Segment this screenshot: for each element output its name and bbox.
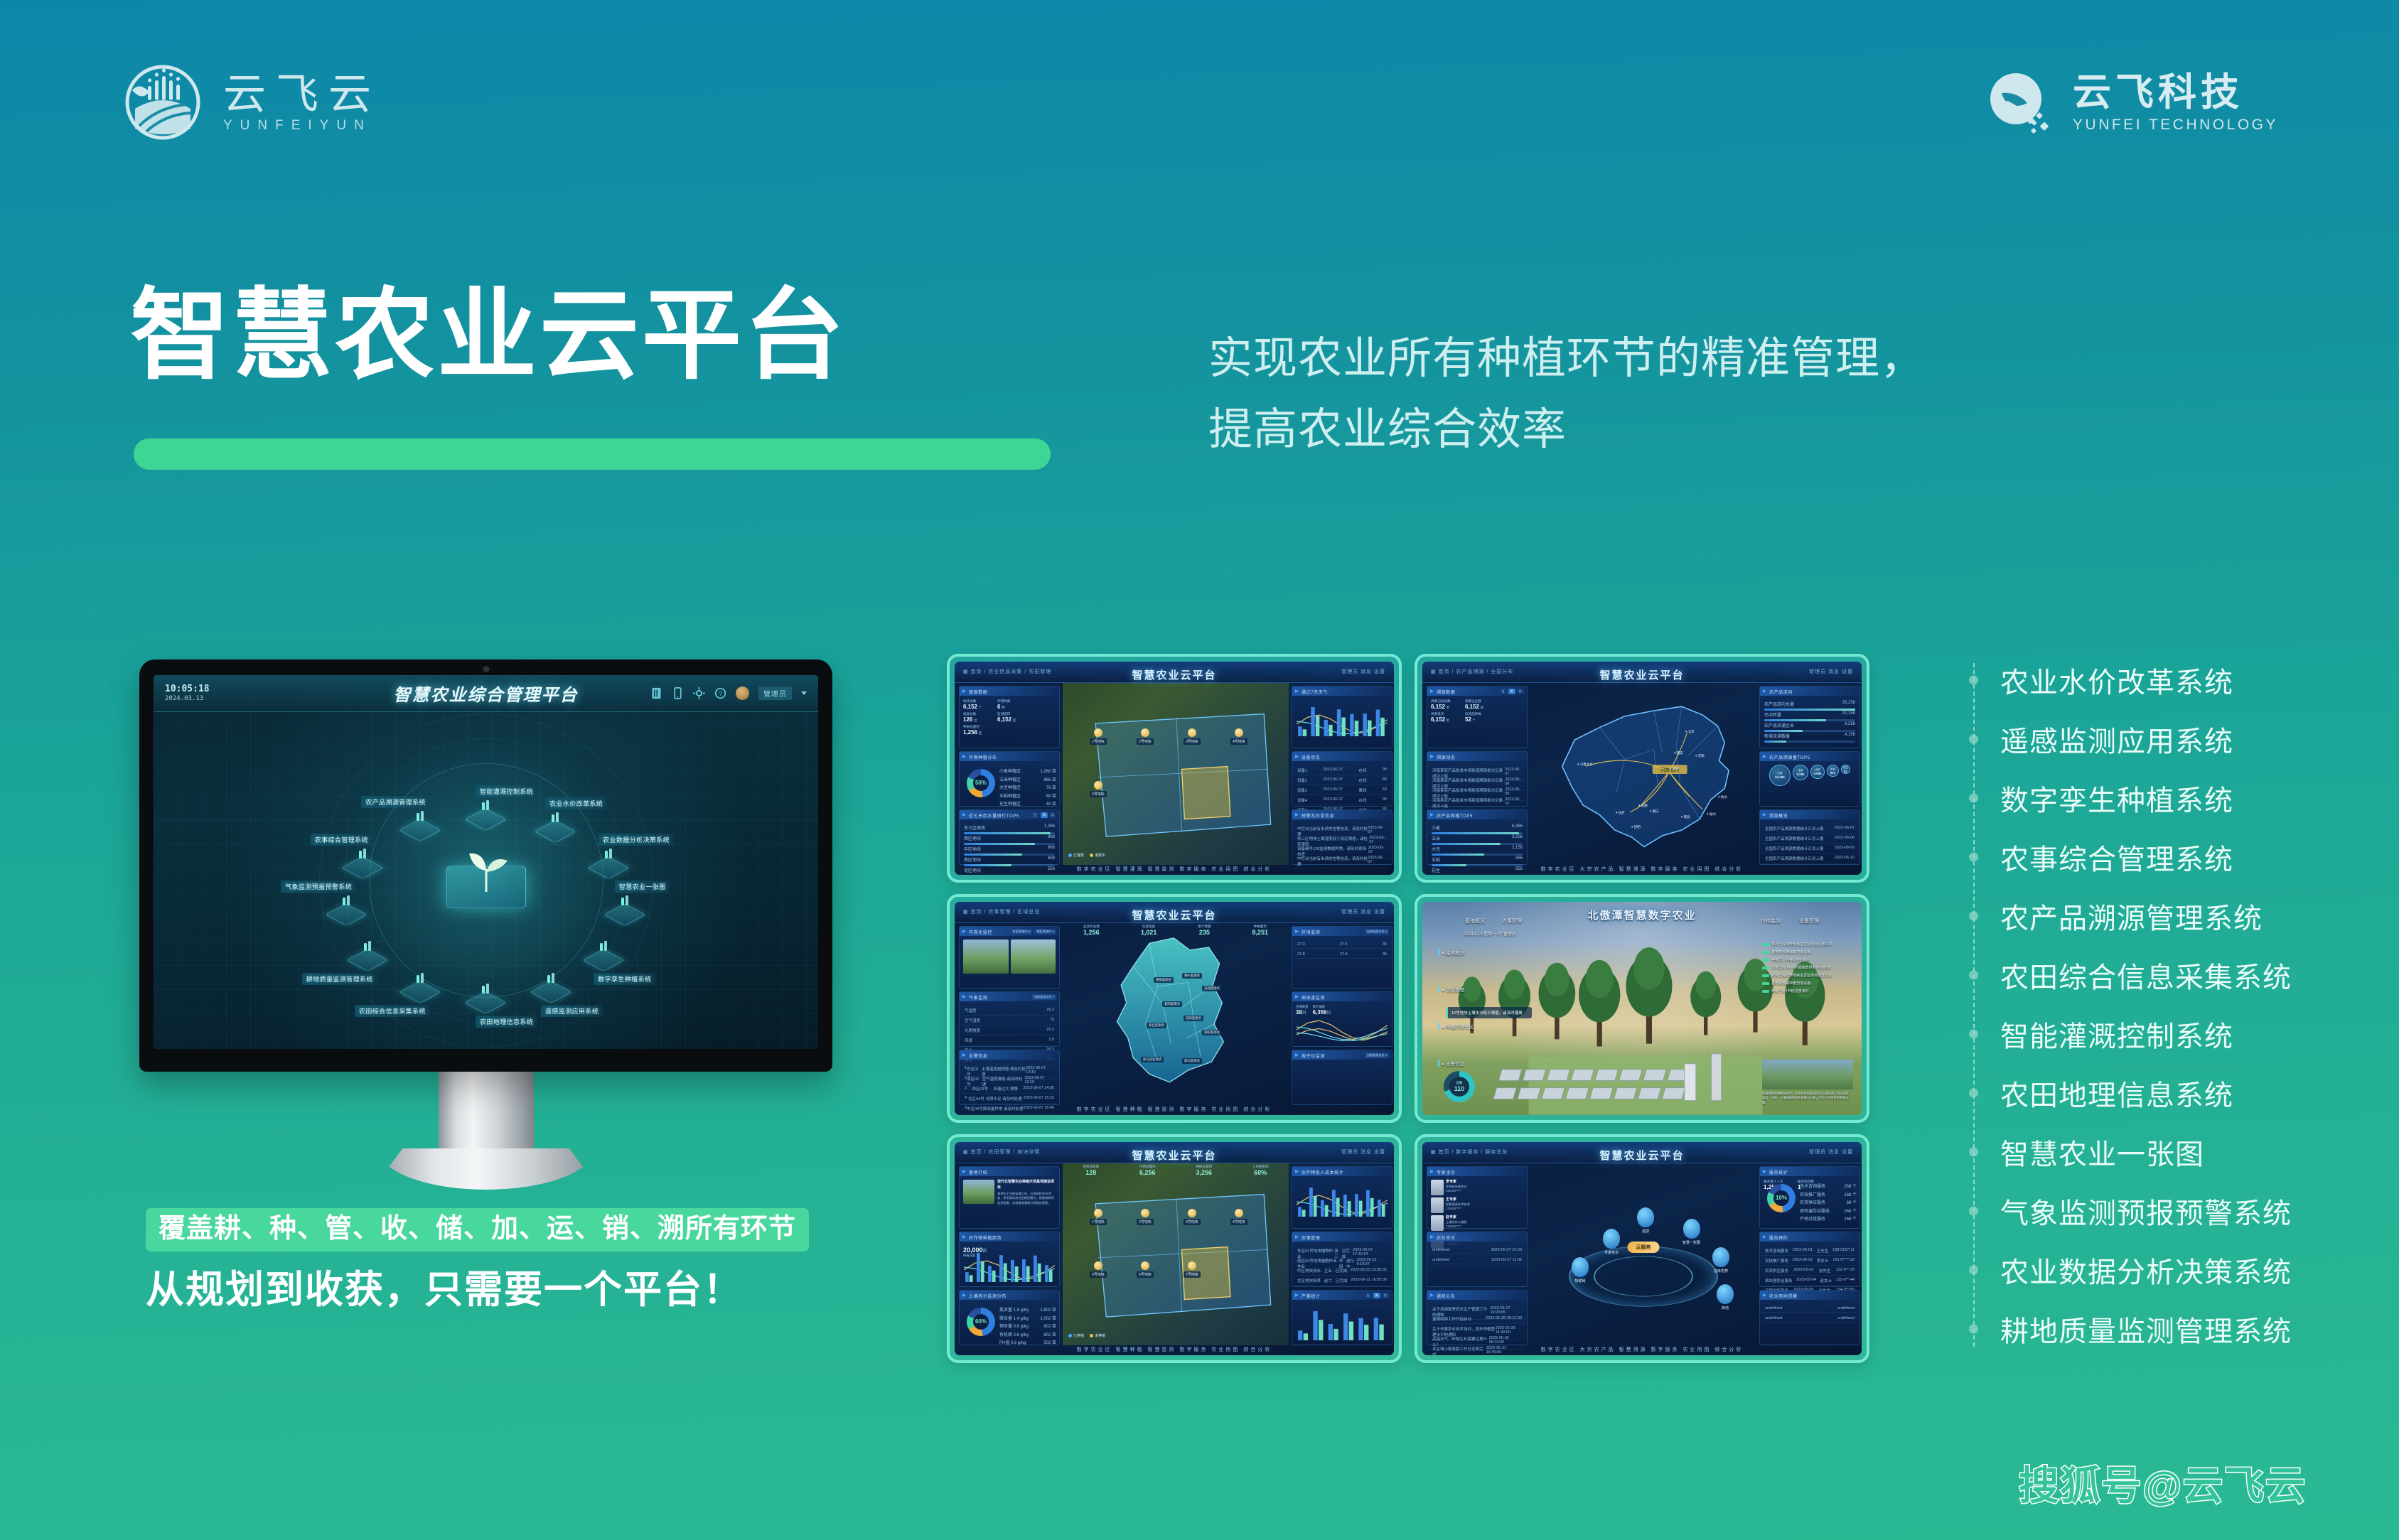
table-row: 河南某农产品批发市场新增溯源批次记录成功上链2023-06-10 (1429, 796, 1525, 811)
title-underline-bar (134, 438, 1051, 470)
gear-icon[interactable] (693, 686, 705, 700)
panel-select[interactable]: 当前监测点位 ▾ (1365, 1052, 1389, 1058)
province-map (1063, 923, 1289, 1105)
system-list-label: 农业水价改革系统 (2000, 659, 2233, 701)
donut-chart: 10% (1767, 1184, 1796, 1212)
hub-node[interactable]: 遥感 (1637, 1207, 1654, 1234)
dashboard-panel: 溯源数据 溯源记录总数 6,152 条 溯源企业数 6,152 家 溯源批次 6… (1427, 686, 1528, 748)
system-list-label: 遥感监测应用系统 (2000, 718, 2233, 760)
system-list-label: 智慧农业一张图 (2000, 1131, 2204, 1173)
map-legend: 已种植 未种植 (1068, 1333, 1105, 1338)
map-marker[interactable]: 1号地块 (1090, 728, 1107, 745)
map-point-label[interactable]: 周口监测点 (1182, 1058, 1202, 1064)
hub-center-label: 云服务 (1628, 1242, 1660, 1253)
bar-row: 已中转量20,158 (1764, 711, 1855, 721)
map-legend: 已灌溉 灌溉中 (1068, 853, 1105, 858)
brand-name-cn: 云飞云 (223, 73, 381, 116)
donut-chart: 60% (967, 1308, 995, 1336)
scene-donut-wrap: 总数110 (1444, 1071, 1475, 1102)
bar-chart (1297, 1308, 1388, 1340)
hub-node-label: 耕地质量监测管理系统 (302, 973, 377, 985)
map-point-label[interactable]: 安阳监测点 (1162, 1001, 1182, 1007)
system-list-label: 耕地质量监测管理系统 (2000, 1308, 2292, 1350)
system-list-item[interactable]: 智慧农业一张图 (1969, 1122, 2292, 1181)
map-city-label: ▾ 南昌 (1681, 815, 1690, 819)
table-row: 4北区04号光照不足 请及时处理2023-06-07 15:22 (961, 1094, 1058, 1104)
sprout-icon (461, 849, 512, 897)
dashboard-panel: 气象监测气温度26.3空气湿度75光照强度26.3风速3.5风力26.3降雨26… (959, 991, 1060, 1047)
panel-title: 通辽7天天气 (1292, 686, 1392, 696)
top-stats-row: 监测点总数 1,256 在线设备 1,021 累计预警 235 种植面积 8,2… (1063, 925, 1289, 936)
table-row: 中区地块浇水王五已完成2023-05-23 10:30:02 (1294, 1266, 1390, 1276)
webcam-icon (483, 666, 489, 672)
bar-row: 新增流通数量4,158 (1764, 733, 1855, 743)
panel-title: 农产品溯源量TOP5 (1760, 752, 1859, 761)
field-circle-logo-icon (121, 60, 205, 144)
system-list-label: 农事综合管理系统 (2000, 836, 2233, 878)
breadcrumb[interactable]: ▦ 首页 / 农事管理 / 区域总览 (963, 908, 1040, 915)
map-city-label: ▾ 重庆 (1650, 809, 1659, 814)
hub-node-label: 农业数据分析决策系统 (599, 834, 674, 846)
monitor-bezel: 10:05:18 2024.03.13 智慧农业综合管理平台 ? 管理员 (139, 659, 832, 1072)
system-list-label: 农产品溯源管理系统 (2000, 895, 2263, 937)
dashboard-panel: 预警及异常信息中控台当前有未读的告警信息，请及时处理2023-06-07东三区地… (1292, 809, 1392, 865)
table-row: undefined2023-05-27 10:20 (1429, 1246, 1525, 1254)
bar-row: 南区地块698 (964, 856, 1055, 866)
map-marker[interactable]: 2号地块 (1137, 728, 1154, 745)
hub-node-icon (340, 893, 353, 908)
panel-select[interactable]: 当前监测点位 ▾ (1365, 929, 1389, 935)
scene-panel-label[interactable]: ▸ 基地概况 (1438, 949, 1464, 956)
bar-row: 水稻956 (1432, 856, 1523, 866)
dashboard-panel: 设备状态设备12023.06.07在线90设备22023.06.07在线80设备… (1292, 751, 1392, 807)
dashboard-panel: 农作物投入成本统计 (1292, 1166, 1392, 1229)
map-city-label: ▾ 福州 (1707, 812, 1716, 817)
line-chart (1297, 1021, 1388, 1043)
intro-card: 现代化智慧农业种植示范基地建设项目基地位于河南省通辽市，占地面积3000余亩，采… (963, 1180, 1056, 1205)
expert-card: 王专家 智慧灌溉技术咨询132450***** (1431, 1197, 1476, 1213)
dashboard-user-meta[interactable]: 管理员 消息 设置 (1809, 668, 1853, 675)
map-marker[interactable]: 3号地块 (1184, 1209, 1201, 1225)
dashboard-panel: 可视化监控东区地块01 ▾南区地块01 ▾ (959, 926, 1060, 989)
camera-thumbnails[interactable] (963, 939, 1056, 974)
clock-time: 10:05:18 (165, 684, 210, 695)
hub-node-icon (602, 846, 615, 861)
thumbnail-screen: 智慧农业云平台▦ 首页 / 农业信息采集 / 农田管理管理员 消息 设置数字农业… (955, 662, 1394, 875)
svg-text:?: ? (719, 690, 722, 697)
table-row: 全国农产品溯源数据统计汇总上报2023-06-08 (1761, 834, 1858, 844)
dashboard-panel: 基地介绍 现代化智慧农业种植示范基地建设项目基地位于河南省通辽市，占地面积300… (959, 1166, 1060, 1229)
panel-tabs[interactable]: 日周月 (1031, 812, 1056, 818)
dashboard-bottom-nav[interactable]: 数字农业区 智慧灌溉 智慧监测 数字服务 农业用图 综合分析 (955, 866, 1394, 873)
hero-title-block: 智慧农业云平台 (130, 281, 847, 392)
dashboard-title: 北傲潭智慧数字农业 (1587, 908, 1696, 922)
dashboard-panel: 农业用地提醒undefinedundefinedundefinedundefin… (1759, 1290, 1860, 1345)
map-marker[interactable]: 5号地块 (1090, 1261, 1107, 1278)
chevron-down-icon[interactable] (801, 691, 807, 695)
panel-title: 告警信息 (960, 1050, 1059, 1060)
leaf-circle-logo-icon (1983, 68, 2057, 141)
thumbnail-screen: 智慧农业云平台▦ 首页 / 农产品溯源 / 全国分布管理员 消息 设置数字农业区… (1422, 662, 1862, 875)
panel-title: 服务统计 (1760, 1167, 1859, 1176)
stat-item: 地块总数 6,152 个 (963, 699, 994, 710)
thumbnail-screen: 北傲潭智慧数字农业2023.3.13 星期一 晴 管理员基地概况农事管理作物监测… (1422, 902, 1862, 1115)
scene-panel-label[interactable]: ▸ 告警信息 (1438, 1060, 1464, 1067)
top-stats-row: 地块总数量 128 作物总面积 6,256 种植总面积 3,256 土地使用率 … (1063, 1165, 1289, 1176)
stat-item: 溯源批次 6,152 批 (1431, 712, 1462, 723)
select-group[interactable]: 东区地块01 ▾南区地块01 ▾ (1011, 929, 1056, 935)
dashboard-panel: 基础数据 地块总数 6,152 个 作物种类 6 种 设备总数 126 台 监测… (959, 686, 1060, 748)
map-marker[interactable]: 5号地块 (1090, 781, 1107, 797)
map-marker[interactable]: 6号地块 (1137, 1261, 1154, 1278)
scene-panel-label[interactable]: ▸ 农机管理 (1438, 986, 1464, 993)
clock-date: 2024.03.13 (165, 695, 210, 703)
table-row: 27.827.535 (1294, 951, 1390, 959)
system-list-label: 智能灌溉控制系统 (2000, 1013, 2233, 1055)
dashboard-user-meta[interactable]: 管理员 消息 设置 (1341, 1148, 1385, 1156)
breadcrumb[interactable]: ▦ 首页 / 农业信息采集 / 农田管理 (963, 668, 1051, 675)
panel-title: 土壤养分监测分布 (960, 1291, 1059, 1300)
hub-node-icon (597, 939, 610, 953)
dashboard-panel: 近七天用水量排行TOP5东三区地块1,266 西区地块968 中区地块866 南… (959, 809, 1060, 865)
service-hub-visual: 云服务 物联网 专家坐诊 遥感 智慧一张图 总体态势 (1530, 1163, 1756, 1345)
panel-title: 农产品流向 (1760, 686, 1859, 696)
panel-title: 作物种植分布 (960, 752, 1059, 761)
hub-node-label: 智慧农业一张图 (615, 881, 670, 893)
screen-topbar: 10:05:18 2024.03.13 智慧农业综合管理平台 ? 管理员 (154, 675, 818, 712)
stat-item: 溯源记录总数 6,152 条 (1431, 699, 1462, 710)
dashboard-panel: 专家坐诊 李专家 作物病虫害防治131480***** 王专家 智慧灌溉技术咨询… (1427, 1166, 1528, 1229)
table-row: 设备42023.06.07在线90 (1294, 796, 1390, 805)
system-list-item[interactable]: 农业水价改革系统 (1969, 650, 2292, 709)
table-row: 光照强度26.3 (961, 1026, 1058, 1035)
bar-row: 西区地块968 (964, 835, 1055, 845)
hub-node-icon (544, 971, 557, 985)
field-parcel-overlay (1063, 1163, 1289, 1345)
map-city-label: ▾ 拉萨 (1616, 811, 1625, 815)
system-list-item[interactable]: 数字孪生种植系统 (1969, 768, 2292, 827)
panel-title: 溯源动态 (1427, 752, 1527, 761)
tagline-highlight: 覆盖耕、种、管、收、储、加、运、销、溯所有环节 (146, 1208, 809, 1251)
map-point-label[interactable]: 南阳监测点 (1202, 1030, 1222, 1035)
dashboard-title: 智慧农业云平台 (1132, 667, 1216, 682)
screen-user-label[interactable]: 管理员 (758, 686, 792, 700)
panel-select[interactable]: 当前监测点位 ▾ (1032, 994, 1056, 1000)
brand-name-en: YUNFEIYUN (223, 119, 381, 132)
dashboard-panel: 农产品溯源量TOP5 小麦63,255 玉米9,256 大豆6,958 水稻82… (1759, 751, 1860, 807)
map-marker[interactable]: 3号地块 (1184, 728, 1201, 745)
table-row: 全国农产品溯源数据统计汇总上报2023-06-09 (1761, 844, 1858, 854)
map-city-label: ▾ 郑州 (1670, 767, 1679, 771)
dashboard-bottom-nav[interactable]: 数字农业区 智慧种植 智慧监测 数字服务 农业用图 综合分析 (955, 1346, 1394, 1353)
system-list-label: 农田地理信息系统 (2000, 1072, 2233, 1114)
stat-item: 设备总数 126 台 (963, 712, 994, 723)
dashboard-panel: 病虫害监测 虫情数量 38只累计捕获 6,356只 (1292, 991, 1392, 1047)
table-row: 全国农产品溯源数据统计汇总上报2023-06-10 (1761, 854, 1858, 863)
table-row: 气温度26.3 (961, 1006, 1058, 1016)
dashboard-panel: 土壤养分监测分布60% 氮含量 1.8 g/kg1,602 亩 磷含量 1.4 … (959, 1290, 1060, 1345)
map-marker[interactable]: 4号地块 (1230, 1209, 1247, 1225)
breadcrumb[interactable]: ▦ 首页 / 农产品溯源 / 全国分布 (1431, 668, 1513, 675)
avatar[interactable] (736, 686, 749, 700)
panel-title: 预警及异常信息 (1292, 810, 1392, 819)
scene-alert: 12号地块土壤水分低于阈值，请及时灌溉 (1447, 1007, 1532, 1018)
dashboard-panel: 农事管理东区01号地块播种作业张三已完成2023-05-07 17:10:24南… (1292, 1232, 1392, 1287)
desktop-monitor: 10:05:18 2024.03.13 智慧农业综合管理平台 ? 管理员 (139, 659, 832, 1190)
system-list-item[interactable]: 耕地质量监测管理系统 (1969, 1299, 2292, 1358)
table-row: 设备32023.06.07离线60 (1294, 786, 1390, 795)
stat-group: 溯源记录总数 6,152 条 溯源企业数 6,152 家 溯源批次 6,152 … (1431, 699, 1523, 723)
table-row: 3西区03号风速过大 预警2023-06-07 14:05 (961, 1084, 1058, 1094)
dashboard-user-meta[interactable]: 管理员 消息 设置 (1341, 668, 1385, 675)
hub-node-icon (479, 981, 492, 996)
table-row: 风速3.5 (961, 1036, 1058, 1045)
panel-title: 农作物种植趋势 (960, 1232, 1059, 1242)
dashboard-panel: 农产品种植TOP5小麦6,456 玉米3,256 大豆2,156 水稻956 花… (1427, 809, 1528, 865)
table-row: 北区地块除草赵六已完成2023-06-11 16:05:00 (1294, 1276, 1390, 1286)
dashboard-center-visual: 洛阳监测点郑州监测点开封监测点安阳监测点商丘监测点信阳监测点南阳监测点驻马店监测… (1063, 923, 1289, 1105)
dashboard-bottom-nav[interactable]: 数字农业区 大宗农产品 智慧溯源 数字服务 农业用图 综合分析 (1422, 866, 1862, 873)
donut-legend: 小麦种植区1,268 亩 玉米种植区868 亩 大豆种植区78 亩 水稻种植区6… (999, 768, 1056, 809)
table-row: undefined2023-05-27 11:05 (1429, 1256, 1525, 1264)
subtitle-line-1: 实现农业所有种植环节的精准管理， (1208, 323, 2104, 394)
panel-tabs[interactable]: 日周年 (1499, 689, 1524, 694)
stat-item: 作物种类 6 种 (997, 699, 1029, 710)
panel-title: 农业用地提醒 (1760, 1291, 1859, 1300)
dashboard-panel: 告警信息1东区01号土壤温度超阈值 请及时处理2023-06-07 12:302… (959, 1050, 1060, 1105)
monitor-screen: 10:05:18 2024.03.13 智慧农业综合管理平台 ? 管理员 (154, 675, 818, 1049)
dashboard-thumbnail[interactable]: 智慧农业云平台▦ 首页 / 农事管理 / 区域总览管理员 消息 设置数字农业区 … (947, 894, 1402, 1123)
map-point-label[interactable]: 驻马店监测点 (1141, 1057, 1164, 1062)
hub-node-label: 农产品溯源管理系统 (361, 796, 430, 808)
breadcrumb[interactable]: ▦ 首页 / 农田管理 / 地块详情 (963, 1148, 1040, 1156)
system-list-item[interactable]: 农产品溯源管理系统 (1969, 886, 2292, 945)
field-parcel-overlay (1063, 683, 1289, 865)
dashboard-title: 智慧农业云平台 (1132, 1148, 1216, 1163)
donut-legend: 氮含量 1.8 g/kg1,602 亩 磷含量 1.4 g/kg1,002 亩 … (999, 1306, 1056, 1347)
system-list-item[interactable]: 农业数据分析决策系统 (1969, 1240, 2292, 1299)
bar-row: 农产品流通企业8,258 (1764, 722, 1855, 732)
scene-nav-item[interactable]: 设备管理 (1799, 917, 1819, 925)
hub-node-label: 气象监测预报预警系统 (281, 881, 356, 893)
scene-right-list: 本月已完成作物病虫害监测点巡查12次 基地共部署58套智能设备 种植区5月种植进… (1762, 942, 1853, 996)
hub-node-label: 数字孪生种植系统 (594, 973, 655, 985)
brand-logo-right: 云飞科技 YUNFEI TECHNOLOGY (1983, 68, 2278, 141)
system-list-label: 农田综合信息采集系统 (2000, 954, 2292, 996)
bar-row: 玉米3,256 (1432, 835, 1523, 845)
map-city-label: ▾ 成都 (1638, 804, 1648, 808)
map-city-label: ▾ 济南 (1695, 754, 1705, 758)
dashboard-panel: 农产品流向农产品流向总量35,258 已中转量20,158 农产品流通企业8,2… (1759, 686, 1860, 748)
monitor-neck (439, 1072, 534, 1148)
system-list-label: 农业数据分析决策系统 (2000, 1249, 2292, 1291)
map-point-label[interactable]: 郑州监测点 (1182, 973, 1202, 979)
map-point-label[interactable]: 洛阳监测点 (1154, 977, 1174, 983)
scene-nav-item[interactable]: 基地概况 (1465, 917, 1485, 925)
scene-photo-card: 本基地采用物联网技术，实现对农田环境的全天候监测，包括温度、湿度、光照、土壤墒情… (1762, 1060, 1853, 1105)
table-row: 设备22023.06.07在线80 (1294, 776, 1390, 785)
dashboard-thumbnail[interactable]: 智慧农业云平台▦ 首页 / 农业信息采集 / 农田管理管理员 消息 设置数字农业… (947, 654, 1402, 883)
dashboard-panel: 作物种植分布50% 小麦种植区1,268 亩 玉米种植区868 亩 大豆种植区7… (959, 751, 1060, 807)
table-row: undefinedundefined (1761, 1305, 1858, 1313)
system-list-item[interactable]: 农田综合信息采集系统 (1969, 945, 2292, 1004)
table-row: 夏粮收购工作开始启动2023-05-28 09:12:00 (1429, 1315, 1525, 1324)
hub-visualization: 智能灌溉控制系统农业水价改革系统农业数据分析决策系统智慧农业一张图数字孪生种植系… (154, 712, 818, 1049)
panel-title: 农业资讯 (1427, 1232, 1527, 1242)
panel-title: 专家坐诊 (1427, 1167, 1527, 1176)
screen-toolbar: ? 管理员 (650, 686, 807, 700)
panel-title: 基地介绍 (960, 1167, 1059, 1176)
dashboard-center-visual: 河南郑州▾ 乌鲁木齐▾ 北京▾ 西安▾ 济南▾ 拉萨▾ 重庆▾ 成都▾ 南昌▾ … (1530, 683, 1756, 865)
table-row: 病虫害防治服务2023-05-04赵女士133-0**-44 (1761, 1276, 1858, 1286)
hub-node-icon (414, 809, 426, 823)
dashboard-user-meta[interactable]: 管理员 消息 设置 (1809, 1148, 1853, 1156)
table-row: undefinedundefined (1761, 1315, 1858, 1323)
bar-chart (1297, 704, 1388, 736)
system-list-item[interactable]: 农事综合管理系统 (1969, 827, 2292, 886)
help-icon[interactable]: ? (714, 686, 726, 700)
table-row: 27.327.535 (1294, 941, 1390, 949)
monitor-base (380, 1148, 593, 1190)
brand2-name-en: YUNFEI TECHNOLOGY (2073, 113, 2278, 137)
metric-group: 虫情数量 38只累计捕获 6,356只 (1296, 1005, 1331, 1016)
hub-node-icon (549, 810, 562, 824)
screen-clock: 10:05:18 2024.03.13 (165, 684, 210, 704)
hub-node-icon (618, 893, 631, 908)
dashboard-title: 智慧农业云平台 (1599, 667, 1684, 682)
bubble-chart: 小麦63,255 玉米9,256 大豆6,958 水稻823 花生84 (1763, 765, 1857, 786)
hub-node-label: 农田地理信息系统 (476, 1016, 537, 1028)
thumbnail-screen: 智慧农业云平台▦ 首页 / 农事管理 / 区域总览管理员 消息 设置数字农业区 … (955, 902, 1394, 1115)
dashboard-thumbnail[interactable]: 智慧农业云平台▦ 首页 / 农产品溯源 / 全国分布管理员 消息 设置数字农业区… (1415, 654, 1869, 883)
dashboard-thumbnail[interactable]: 北傲潭智慧数字农业2023.3.13 星期一 晴 管理员基地概况农事管理作物监测… (1415, 894, 1869, 1123)
panel-title: 基础数据 (960, 686, 1059, 696)
tagline-block: 覆盖耕、种、管、收、储、加、运、销、溯所有环节 从规划到收获，只需要一个平台！ (146, 1208, 809, 1313)
stat-group: 地块总数 6,152 个 作物种类 6 种 设备总数 126 台 监测面积 6,… (963, 699, 1056, 736)
dashboard-thumbnail[interactable]: 智慧农业云平台▦ 首页 / 数字服务 / 服务总览管理员 消息 设置数字农业区 … (1415, 1134, 1869, 1363)
bar-chart (1297, 1184, 1388, 1217)
panel-title: 设备状态 (1292, 752, 1392, 761)
dashboard-panel: 农业资讯undefined2023-05-27 10:20undefined20… (1427, 1232, 1528, 1287)
thumbnail-screen: 智慧农业云平台▦ 首页 / 农田管理 / 地块详情管理员 消息 设置数字农业区 … (955, 1142, 1394, 1355)
stat-item: 追溯品种数 52 个 (1465, 712, 1496, 723)
dashboard-panel: 溯源动态河南某农产品批发市场新增溯源批次记录成功上链2023-06-07河南某农… (1427, 751, 1528, 807)
hub-node-icon (361, 939, 374, 953)
scene-date-user: 2023.3.13 星期一 晴 管理员 (1464, 930, 1516, 937)
scene-panel-label[interactable]: ▸ 种植作物分区 (1438, 1023, 1474, 1030)
hub-node[interactable]: 专家坐诊 (1603, 1229, 1620, 1255)
donut-chart: 50% (967, 769, 995, 797)
map-marker[interactable]: 2号地块 (1137, 1209, 1154, 1225)
hub-node-icon (414, 971, 426, 985)
hub-node-icon (356, 846, 369, 861)
table-row: 设备12023.06.07在线90 (1294, 766, 1390, 775)
dashboard-panel: 溯源概览全国农产品溯源数据统计汇总上报2023-06-07全国农产品溯源数据统计… (1759, 809, 1860, 865)
mobile-icon[interactable] (672, 686, 684, 700)
panel-title: 农产品种植TOP5 (1427, 810, 1527, 819)
bar-row: 大豆2,156 (1432, 846, 1523, 856)
dashboard-thumbnail[interactable]: 智慧农业云平台▦ 首页 / 农田管理 / 地块详情管理员 消息 设置数字农业区 … (947, 1134, 1402, 1363)
page-header: 云飞云 YUNFEIYUN 云飞科技 YUNFEI TECHNOLOGY (0, 0, 2399, 171)
dashboard-center-visual: 1号地块 2号地块 3号地块 4号地块 5号地块 6号地块 7号地块 已种植 未… (1063, 1163, 1289, 1345)
stat-item: 溯源企业数 6,152 家 (1465, 699, 1496, 710)
system-list-label: 数字孪生种植系统 (2000, 777, 2233, 819)
table-row: 全国农产品溯源数据统计汇总上报2023-06-07 (1761, 824, 1858, 834)
brand-logo-left: 云飞云 YUNFEIYUN (121, 60, 381, 144)
bar-row: 中区地块866 (964, 846, 1055, 856)
hub-node[interactable]: 智慧一张图 (1682, 1219, 1700, 1245)
system-list-item[interactable]: 农田地理信息系统 (1969, 1063, 2292, 1122)
map-point-label[interactable]: 商丘监测点 (1147, 1023, 1166, 1028)
dashboard-panel: 通知公告关于加强夏季农业生产管理工作的通知2023-05-27 10:20:05… (1427, 1290, 1528, 1345)
dashboard-user-meta[interactable]: 管理员 消息 设置 (1341, 908, 1385, 915)
hub-node[interactable]: 总体态势 (1712, 1247, 1729, 1274)
dashboard-panel: 农作物种植趋势 20,000亩 种植总量 (959, 1232, 1060, 1287)
table-row: 农技推广服务2023-05-02李女士131-0****-22 (1761, 1256, 1858, 1266)
hub-node-icon (479, 798, 492, 812)
china-map: 河南郑州 (1530, 683, 1756, 865)
tagline-slogan: 从规划到收获，只需要一个平台！ (146, 1267, 809, 1313)
map-city-label: ▾ 乌鲁木齐 (1577, 763, 1593, 767)
breadcrumb[interactable]: ▦ 首页 / 数字服务 / 服务总览 (1431, 1148, 1508, 1156)
dashboard-bottom-nav[interactable]: 数字农业区 大宗农产品 智慧溯源 数字服务 农业用图 综合分析 (1422, 1346, 1862, 1353)
panel-tabs[interactable]: 日周月 (1364, 1293, 1389, 1298)
scene-nav-item[interactable]: 作物监测 (1761, 917, 1781, 925)
system-list-item[interactable]: 智能灌溉控制系统 (1969, 1004, 2292, 1063)
dashboard-panel: 产量统计 日周月 (1292, 1290, 1392, 1345)
stat-item: 监测面积 6,152 亩 (997, 712, 1029, 723)
dashboard-center-visual: 1号地块 2号地块 3号地块 4号地块 5号地块 已灌溉 灌溉中 (1063, 683, 1289, 865)
book-icon[interactable] (650, 686, 662, 700)
panel-title: 溯源概览 (1760, 810, 1859, 819)
thumbnail-screen: 智慧农业云平台▦ 首页 / 数字服务 / 服务总览管理员 消息 设置数字农业区 … (1422, 1142, 1862, 1355)
hub-node-label: 遥感监测应用系统 (541, 1005, 603, 1017)
system-list-item[interactable]: 遥感监测应用系统 (1969, 709, 2292, 768)
subtitle-line-2: 提高农业综合效率 (1208, 394, 2104, 465)
map-city-label: ▾ 昆明 (1631, 825, 1641, 829)
bar-row: 小麦6,456 (1432, 824, 1523, 834)
scene-nav-item[interactable]: 农事管理 (1502, 917, 1522, 925)
dashboard-panel: 服务统计 服务累计人次 1,256 服务机构数 1 10% 技术咨询服务268 … (1759, 1166, 1860, 1229)
system-list-item[interactable]: 气象监测预报预警系统 (1969, 1181, 2292, 1240)
map-marker[interactable]: 7号地块 (1184, 1261, 1201, 1278)
map-city-label: ▾ 北京 (1685, 730, 1695, 734)
metric-highlight: 20,000亩 种植总量 (963, 1246, 987, 1258)
dashboard-title: 智慧农业云平台 (1132, 908, 1216, 922)
brand2-name-cn: 云飞科技 (2073, 72, 2278, 113)
map-marker[interactable]: 1号地块 (1090, 1209, 1107, 1225)
hub-node[interactable]: 其他 (1717, 1284, 1734, 1310)
map-point-label[interactable]: 开封监测点 (1202, 986, 1222, 991)
stat-item: 种植总面积 1,256 亩 (963, 725, 994, 736)
panel-title: 农事管理 (1292, 1232, 1392, 1242)
map-marker[interactable]: 4号地块 (1230, 728, 1247, 745)
system-list: 农业水价改革系统遥感监测应用系统数字孪生种植系统农事综合管理系统农产品溯源管理系… (1969, 650, 2292, 1358)
dashboard-center-visual: 云服务 物联网 专家坐诊 遥感 智慧一张图 总体态势 (1530, 1163, 1756, 1345)
table-row: 技术咨询服务2023-05-01王先生138-0127-11 (1761, 1246, 1858, 1256)
panel-title: 服务预约 (1760, 1232, 1859, 1242)
map-city-label: ▾ 西安 (1674, 751, 1683, 755)
hub-node[interactable]: 物联网 (1572, 1257, 1589, 1283)
dashboard-bottom-nav[interactable]: 数字农业区 智慧种植 智慧监测 数字服务 农业用图 综合分析 (955, 1106, 1394, 1113)
table-row: 空气湿度75 (961, 1016, 1058, 1025)
hub-node-label: 农田综合信息采集系统 (355, 1005, 430, 1017)
map-point-label[interactable]: 信阳监测点 (1184, 1016, 1203, 1021)
expert-card: 赵专家 土壤改良与施肥133460***** (1431, 1215, 1476, 1231)
page-title: 智慧农业云平台 (130, 281, 847, 392)
panel-title: 病虫害监测 (1292, 992, 1392, 1001)
map-city-label: ▾ 杭州 (1718, 795, 1727, 799)
